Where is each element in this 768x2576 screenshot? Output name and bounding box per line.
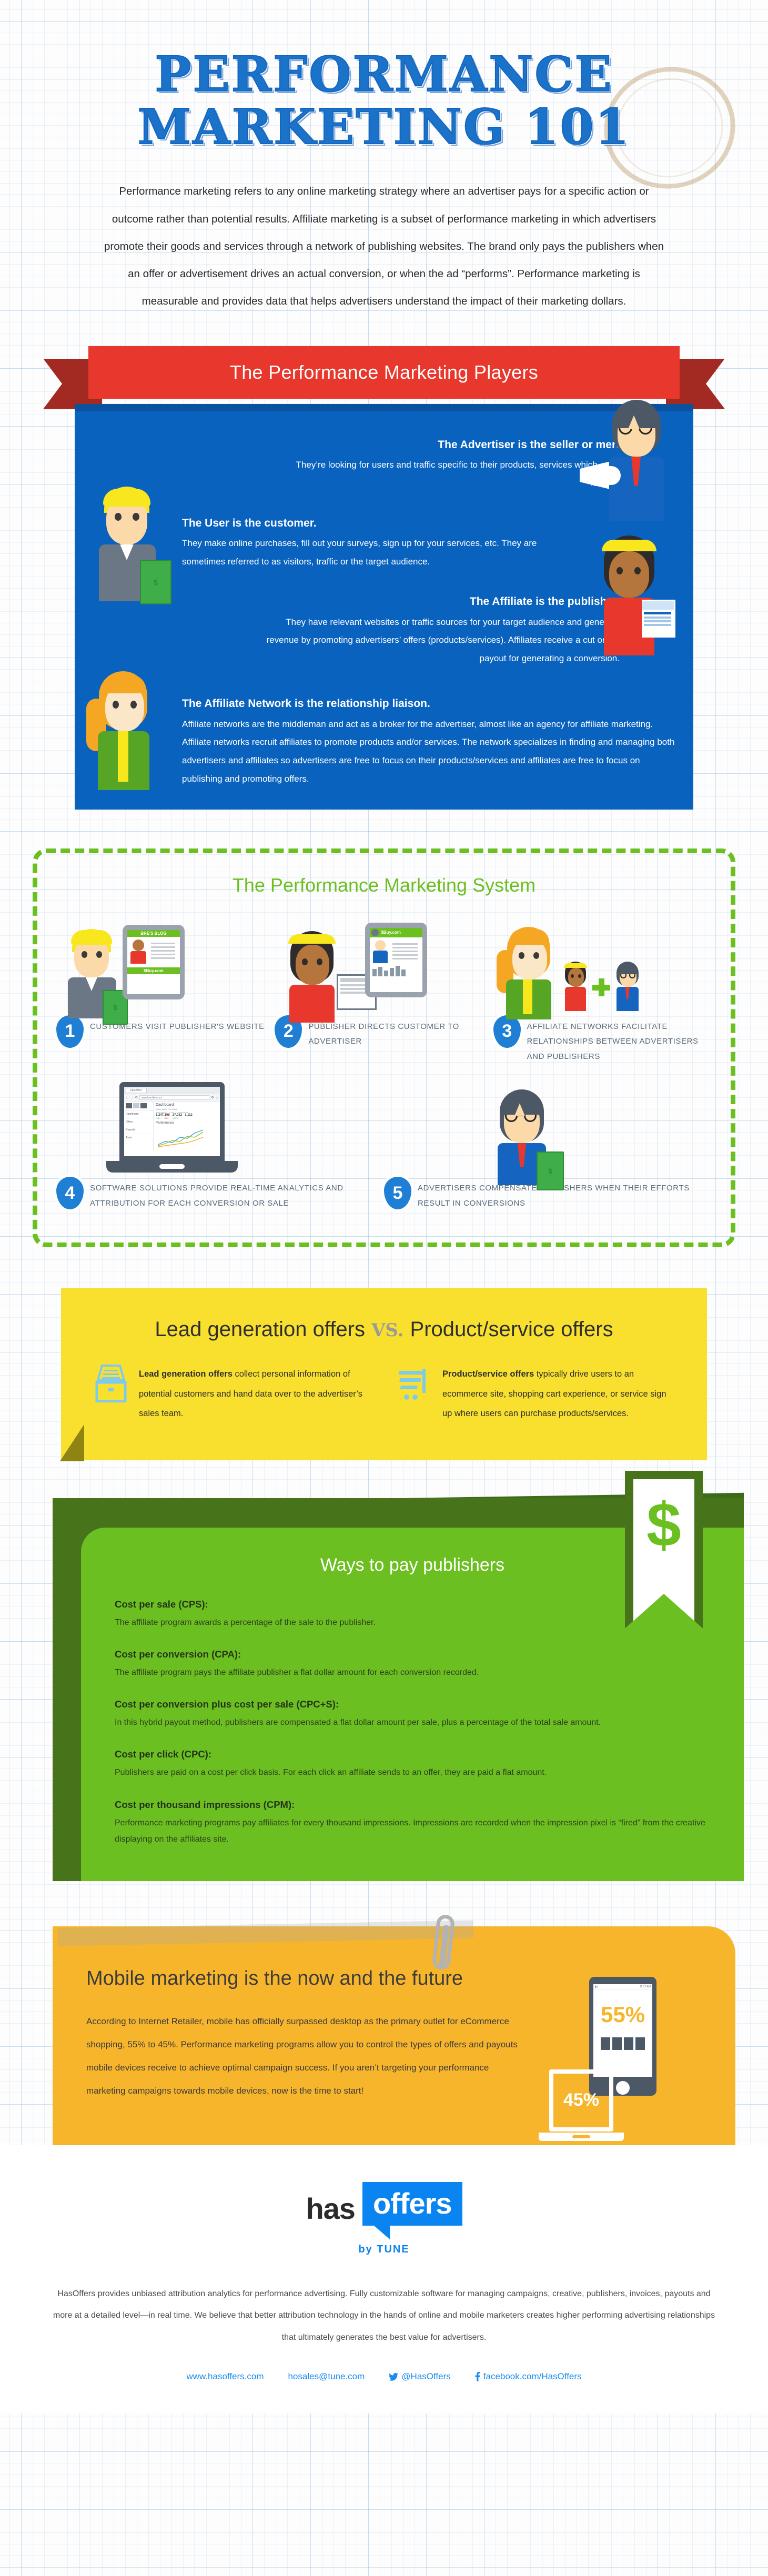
lead-gen-text: Lead generation offers collect personal …	[139, 1365, 370, 1423]
step2-tablet: $Buy.com	[365, 923, 427, 997]
plus-icon	[592, 978, 610, 996]
user-text-block: The User is the customer. They make onli…	[182, 493, 545, 571]
stat-delta-0: +18%	[156, 1117, 160, 1119]
step1-cta: $Buy.com	[127, 967, 180, 974]
title-line-1: PERFORMANCE	[0, 50, 768, 98]
pay-body-cpm: Performance marketing programs pay affil…	[115, 1815, 710, 1847]
step-badge-3: 3	[493, 1015, 521, 1048]
vs-label: VS.	[365, 1320, 410, 1341]
phone-home-button	[616, 2081, 630, 2095]
dashboard-nav-2[interactable]: Reports	[124, 1126, 153, 1134]
pay-heading-cpa: Cost per conversion (CPA):	[115, 1649, 710, 1660]
step-label-3: AFFILIATE NETWORKS FACILITATE RELATIONSH…	[527, 1015, 712, 1065]
step1-customer	[60, 929, 124, 1018]
pay-section-title: Ways to pay publishers	[115, 1555, 710, 1575]
step-badge-1: 1	[56, 1015, 84, 1048]
players-panel: The Advertiser is the seller or merchant…	[75, 404, 693, 810]
logo-offers-bubble: offers	[362, 2182, 462, 2226]
dashboard-line-chart	[156, 1125, 206, 1148]
step3-mini-affiliate	[561, 962, 590, 1012]
pay-body-cps: The affiliate program awards a percentag…	[115, 1614, 710, 1631]
pay-publishers-panel: $ Ways to pay publishers Cost per sale (…	[0, 1498, 768, 1881]
logo-by-tune: by TUNE	[0, 2244, 768, 2256]
footer-link-twitter-label: @HasOffers	[401, 2371, 450, 2382]
vs-title-right: Product/service offers	[410, 1318, 613, 1341]
affiliate-character	[591, 536, 675, 660]
page-curl	[60, 1425, 84, 1461]
product-service-text: Product/service offers typically drive u…	[442, 1365, 673, 1423]
tablet-base	[539, 2133, 624, 2141]
step3-network-person	[497, 927, 560, 1019]
hasoffers-logo: has offers	[306, 2182, 462, 2226]
player-advertiser: The Advertiser is the seller or merchant…	[75, 422, 693, 493]
system-section-title: The Performance Marketing System	[56, 874, 712, 896]
system-steps-row-1: BRE'S BLOG $Buy.com	[56, 920, 712, 1065]
affiliate-heading: The Affiliate is the publisher.	[251, 593, 620, 610]
system-step-5: 5 ADVERTISERS COMPENSATE PUBLISHERS WHEN…	[384, 1082, 712, 1211]
footer-link-twitter[interactable]: @HasOffers	[389, 2371, 450, 2382]
system-step-2: $Buy.com	[275, 920, 493, 1065]
network-text-block: The Affiliate Network is the relationshi…	[182, 668, 676, 789]
logo-has-text: has	[306, 2191, 362, 2226]
pay-body-cpcs: In this hybrid payout method, publishers…	[115, 1714, 710, 1731]
footer-links: www.hasoffers.com hosales@tune.com @HasO…	[0, 2371, 768, 2382]
tablet-graphic: 45%	[549, 2069, 613, 2131]
dashboard-subheading: Quick Stats: This Week	[156, 1108, 218, 1110]
menu-icon[interactable]: ☰	[216, 1096, 218, 1099]
footer-paragraph: HasOffers provides unbiased attribution …	[50, 2283, 718, 2349]
players-ribbon: The Performance Marketing Players	[0, 346, 768, 404]
intro-paragraph: Performance marketing refers to any onli…	[100, 178, 668, 315]
dashboard-nav-1[interactable]: Offers	[124, 1118, 153, 1126]
footer-link-facebook[interactable]: facebook.com/HasOffers	[475, 2371, 582, 2382]
footer-link-facebook-label: facebook.com/HasOffers	[483, 2371, 582, 2382]
system-step-1: BRE'S BLOG $Buy.com	[56, 920, 275, 1065]
back-icon: ←	[126, 1096, 129, 1099]
lead-gen-column: Lead generation offers collect personal …	[95, 1365, 370, 1423]
stat-delta-1: -19%	[164, 1117, 168, 1119]
footer-link-website[interactable]: www.hasoffers.com	[186, 2371, 264, 2382]
pay-item-cpm: Cost per thousand impressions (CPM): Per…	[115, 1799, 710, 1847]
website-icon	[640, 600, 675, 638]
desktop-share-pct: 45%	[563, 2090, 599, 2110]
forward-icon: →	[130, 1096, 134, 1099]
vs-title-left: Lead generation offers	[155, 1318, 365, 1341]
dashboard-tab: hasOffers	[126, 1088, 147, 1093]
product-service-column: Product/service offers typically drive u…	[398, 1365, 673, 1423]
reload-icon: ⟳	[135, 1096, 138, 1099]
affiliate-body: They have relevant websites or traffic s…	[251, 613, 620, 669]
pay-item-cps: Cost per sale (CPS): The affiliate progr…	[115, 1599, 710, 1631]
logo-offers-text: offers	[373, 2187, 452, 2220]
mobile-marketing-panel: ▮▯ 12:15 AM 55% 45% Mobile marketing is …	[0, 1926, 768, 2145]
system-step-3: 3 AFFILIATE NETWORKS FACILITATE RELATION…	[493, 920, 712, 1065]
stat-value-1: 27,032	[173, 1114, 182, 1117]
page-title: PERFORMANCE MARKETING 101	[0, 0, 768, 150]
system-step-4: hasOffers ← → ⟳ www.hasoffers.com ⚙ ☰	[56, 1082, 384, 1211]
inbox-icon	[95, 1365, 127, 1423]
infographic-page: PERFORMANCE MARKETING 101 Performance ma…	[0, 0, 768, 2576]
footer-link-email[interactable]: hosales@tune.com	[288, 2371, 365, 2382]
pay-heading-cpm: Cost per thousand impressions (CPM):	[115, 1799, 710, 1811]
step3-mini-advertiser	[612, 962, 643, 1012]
pay-heading-cps: Cost per sale (CPS):	[115, 1599, 710, 1610]
twitter-icon	[389, 2373, 398, 2381]
step5-advertiser	[487, 1089, 561, 1185]
pay-body-cpa: The affiliate program pays the affiliate…	[115, 1664, 710, 1681]
pay-item-cpa: Cost per conversion (CPA): The affiliate…	[115, 1649, 710, 1681]
players-section-title: The Performance Marketing Players	[230, 361, 538, 383]
ribbon-banner: The Performance Marketing Players	[88, 346, 680, 399]
gear-icon[interactable]: ⚙	[211, 1096, 214, 1099]
system-steps-row-2: hasOffers ← → ⟳ www.hasoffers.com ⚙ ☰	[56, 1082, 712, 1211]
phone-keys	[593, 2037, 652, 2050]
dashboard-nav-3[interactable]: Tools	[124, 1134, 153, 1141]
footer-link-website-label: www.hasoffers.com	[186, 2371, 264, 2382]
offers-comparison-panel: Lead generation offersVS.Product/service…	[61, 1288, 707, 1460]
dashboard-heading: Dashboard	[156, 1103, 218, 1107]
vs-section-title: Lead generation offersVS.Product/service…	[95, 1318, 673, 1341]
advertiser-heading: The Advertiser is the seller or merchant…	[280, 437, 649, 453]
user-body: They make online purchases, fill out you…	[182, 534, 545, 571]
player-network: The Affiliate Network is the relationshi…	[75, 668, 693, 789]
dollar-sign: $	[646, 1494, 681, 1556]
step4-laptop-base	[106, 1161, 238, 1173]
facebook-icon	[475, 2372, 480, 2381]
stat-value-2: 1,112	[185, 1114, 193, 1117]
pay-item-cpcs: Cost per conversion plus cost per sale (…	[115, 1699, 710, 1731]
step1-tablet: BRE'S BLOG $Buy.com	[123, 925, 185, 999]
player-affiliate: The Affiliate is the publisher. They hav…	[75, 571, 693, 668]
shopping-cart-icon	[398, 1365, 431, 1423]
dashboard-nav-0[interactable]: Dashboard	[124, 1110, 153, 1118]
network-body: Affiliate networks are the middleman and…	[182, 715, 676, 789]
mobile-share-pct: 55%	[593, 1990, 652, 2026]
affiliate-text-block: The Affiliate is the publisher. They hav…	[251, 571, 620, 668]
stat-value-0: 1,247,198	[156, 1114, 170, 1117]
pay-heading-cpcs: Cost per conversion plus cost per sale (…	[115, 1699, 710, 1710]
mobile-section-title: Mobile marketing is the now and the futu…	[86, 1967, 545, 1990]
stat-delta-2: +105%	[172, 1117, 178, 1119]
step-label-2: PUBLISHER DIRECTS CUSTOMER TO ADVERTISER	[308, 1015, 493, 1049]
step2-site-title: $Buy.com	[381, 930, 401, 935]
user-heading: The User is the customer.	[182, 515, 545, 532]
step1-blog-title: BRE'S BLOG	[127, 930, 180, 937]
footer: has offers by TUNE HasOffers provides un…	[0, 2145, 768, 2414]
pay-heading-cpc: Cost per click (CPC):	[115, 1749, 710, 1760]
title-line-2: MARKETING 101	[0, 103, 768, 150]
network-heading: The Affiliate Network is the relationshi…	[182, 695, 676, 712]
network-character	[87, 671, 156, 790]
pay-item-cpc: Cost per click (CPC): Publishers are pai…	[115, 1749, 710, 1781]
dashboard-url[interactable]: www.hasoffers.com	[139, 1095, 209, 1100]
pay-body-cpc: Publishers are paid on a cost per click …	[115, 1764, 710, 1781]
product-service-bold: Product/service offers	[442, 1369, 534, 1379]
lead-gen-bold: Lead generation offers	[139, 1369, 233, 1379]
mobile-body: According to Internet Retailer, mobile h…	[86, 2010, 528, 2103]
step4-laptop: hasOffers ← → ⟳ www.hasoffers.com ⚙ ☰	[119, 1082, 225, 1161]
system-panel: The Performance Marketing System	[33, 848, 735, 1248]
phone-time: 12:15 AM	[640, 1985, 651, 1988]
phone-signal-icon: ▮▯	[595, 1985, 598, 1988]
footer-link-email-label: hosales@tune.com	[288, 2371, 365, 2382]
